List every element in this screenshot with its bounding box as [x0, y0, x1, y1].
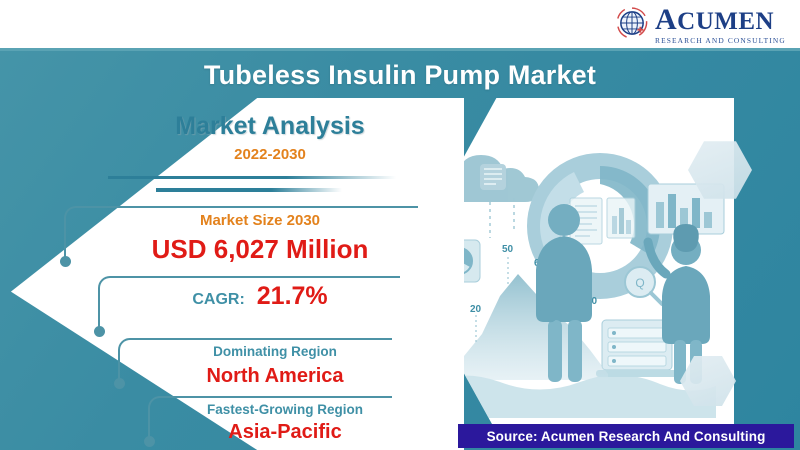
- divider-secondary: [156, 188, 342, 192]
- header-divider: [0, 48, 800, 51]
- fastest-region-label: Fastest-Growing Region: [140, 402, 430, 417]
- illus-label-50: 50: [502, 244, 514, 255]
- cagr-row: CAGR: 21.7%: [110, 282, 410, 311]
- globe-icon: [614, 5, 650, 46]
- cagr-label: CAGR:: [192, 291, 244, 309]
- fastest-region-value: Asia-Pacific: [140, 421, 430, 444]
- dominating-region-label: Dominating Region: [130, 344, 420, 359]
- source-bar: Source: Acumen Research And Consulting: [458, 424, 794, 448]
- illus-label-20: 20: [470, 304, 482, 315]
- logo-wordmark: AAcumenCUMEN: [655, 5, 786, 35]
- page-title: Tubeless Insulin Pump Market: [204, 60, 596, 91]
- company-logo: AAcumenCUMEN RESEARCH AND CONSULTING: [614, 4, 786, 46]
- logo-tagline: RESEARCH AND CONSULTING: [655, 37, 786, 44]
- section-period: 2022-2030: [120, 146, 420, 163]
- divider-primary: [108, 176, 396, 179]
- infographic-canvas: AAcumenCUMEN RESEARCH AND CONSULTING Tub…: [0, 0, 800, 450]
- cagr-value: 21.7%: [257, 282, 328, 311]
- market-size-value: USD 6,027 Million: [100, 234, 420, 265]
- dominating-region-value: North America: [130, 365, 420, 388]
- title-band: Tubeless Insulin Pump Market: [0, 52, 800, 98]
- market-size-label: Market Size 2030: [110, 212, 410, 229]
- section-title: Market Analysis: [120, 112, 420, 141]
- svg-text:Q: Q: [635, 276, 644, 290]
- source-text: Source: Acumen Research And Consulting: [487, 429, 766, 444]
